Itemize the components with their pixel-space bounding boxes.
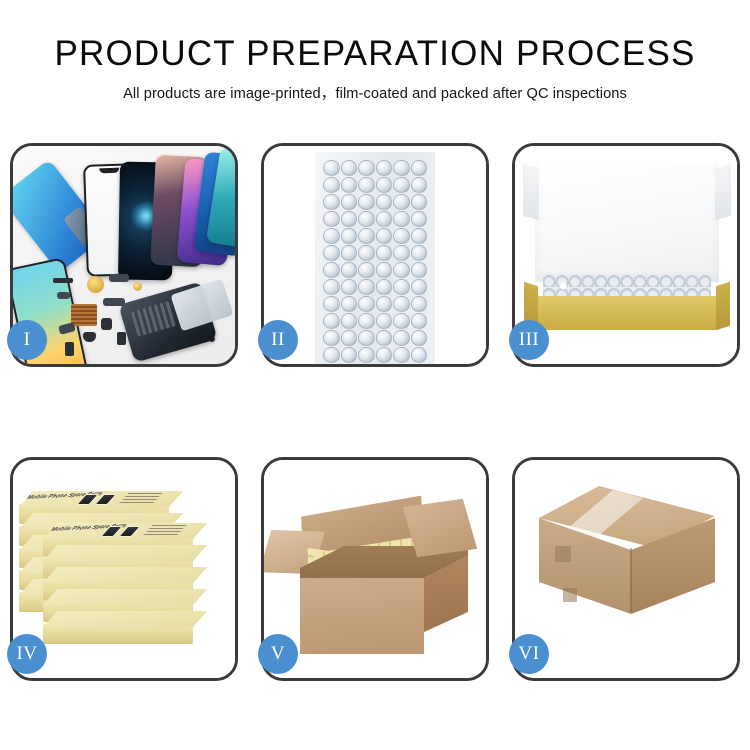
- speaker-part-icon: [87, 276, 104, 293]
- bubble-cell: [376, 177, 393, 193]
- connector-part-icon: [53, 278, 73, 283]
- sealed-carton-scene: [515, 460, 737, 678]
- bubble-grid: [323, 160, 427, 356]
- bubble-cell: [358, 296, 375, 312]
- bubble-cell: [341, 194, 358, 210]
- step-image-1: [13, 146, 235, 364]
- step-panel-1: I: [10, 143, 238, 367]
- bubble-cell: [358, 211, 375, 227]
- bubble-cell: [411, 330, 428, 346]
- chip-grid-part-icon: [71, 304, 97, 326]
- step-image-3: [515, 146, 737, 364]
- taptic-part-icon: [83, 332, 96, 342]
- bubble-cell: [411, 245, 428, 261]
- step-panel-4: Mobile Phone Spare PartsMobile Phone Spa…: [10, 457, 238, 681]
- bubble-cell: [323, 347, 340, 363]
- box-lid-icon: [535, 162, 719, 282]
- bubble-cell: [323, 177, 340, 193]
- bubble-cell: [376, 228, 393, 244]
- kraft-box-top-face: [43, 611, 207, 627]
- bubble-cell: [358, 279, 375, 295]
- page-subtitle: All products are image-printed，film-coat…: [0, 82, 750, 103]
- bubble-cell: [323, 262, 340, 278]
- step-badge-5: V: [258, 634, 298, 674]
- bubble-cell: [358, 228, 375, 244]
- bubble-cell: [393, 313, 410, 329]
- bubble-cell: [393, 279, 410, 295]
- step-badge-4: IV: [7, 634, 47, 674]
- bubble-cell: [358, 160, 375, 176]
- kraft-box-top-face: [43, 589, 207, 605]
- step-image-6: [515, 460, 737, 678]
- bubble-cell: [411, 347, 428, 363]
- bubble-cell: [376, 245, 393, 261]
- bubble-cell: [341, 228, 358, 244]
- bubble-cell: [341, 211, 358, 227]
- bubble-cell: [323, 160, 340, 176]
- step-image-2: [264, 146, 486, 364]
- carton-hand-hole-icon: [563, 588, 577, 602]
- phone-parts-scene: [13, 146, 235, 364]
- bubble-cell: [393, 296, 410, 312]
- step-badge-2: II: [258, 320, 298, 360]
- bubble-cell: [341, 296, 358, 312]
- step-badge-6: VI: [509, 634, 549, 674]
- bubble-cell: [341, 313, 358, 329]
- header: PRODUCT PREPARATION PROCESS All products…: [0, 0, 750, 103]
- bubble-cell: [323, 211, 340, 227]
- carton-edge-seam: [630, 548, 632, 612]
- bubble-cell: [393, 330, 410, 346]
- page-title: PRODUCT PREPARATION PROCESS: [0, 36, 750, 73]
- bubble-cell: [358, 245, 375, 261]
- step-badge-1: I: [7, 320, 47, 360]
- bubble-cell: [393, 194, 410, 210]
- bubble-cell: [358, 313, 375, 329]
- bubble-cell: [393, 211, 410, 227]
- bubble-cell: [323, 313, 340, 329]
- bubble-cell: [393, 347, 410, 363]
- open-carton-scene: [264, 460, 486, 678]
- carton-flap-right-icon: [403, 499, 477, 557]
- step-image-4: Mobile Phone Spare PartsMobile Phone Spa…: [13, 460, 235, 678]
- carton-hand-hole-icon: [555, 546, 571, 562]
- bubble-cell: [358, 347, 375, 363]
- bubble-cell: [376, 279, 393, 295]
- bubble-cell: [341, 177, 358, 193]
- bubble-cell: [323, 279, 340, 295]
- bubble-cell: [376, 160, 393, 176]
- button-part-icon: [117, 332, 126, 345]
- bubble-cell: [393, 245, 410, 261]
- bubble-cell: [411, 262, 428, 278]
- bubble-cell: [411, 177, 428, 193]
- bubble-cell: [411, 160, 428, 176]
- step-panel-2: II: [261, 143, 489, 367]
- camera-part-icon: [101, 318, 112, 330]
- bubble-cell: [341, 262, 358, 278]
- bubble-cell: [341, 160, 358, 176]
- bubble-cell: [411, 211, 428, 227]
- bubble-cell: [358, 262, 375, 278]
- flex-cable-part-icon: [109, 274, 129, 282]
- bubble-cell: [323, 296, 340, 312]
- stacked-boxes-scene: Mobile Phone Spare PartsMobile Phone Spa…: [13, 460, 235, 678]
- bubble-cell: [341, 330, 358, 346]
- bubble-cell: [323, 330, 340, 346]
- bubble-cell: [323, 245, 340, 261]
- step-panel-6: VI: [512, 457, 740, 681]
- step-panel-3: III: [512, 143, 740, 367]
- kraft-box-top-face: [43, 567, 207, 583]
- flex-cable-part-icon: [57, 292, 70, 299]
- bubble-cell: [323, 194, 340, 210]
- bubble-cell: [393, 262, 410, 278]
- bubble-cell: [411, 228, 428, 244]
- kraft-box: [43, 624, 193, 644]
- step-panel-5: V: [261, 457, 489, 681]
- bubble-cell: [358, 194, 375, 210]
- bubble-cell: [341, 245, 358, 261]
- bubble-cell: [393, 160, 410, 176]
- bubble-cell: [411, 296, 428, 312]
- step-badge-3: III: [509, 320, 549, 360]
- step-image-5: [264, 460, 486, 678]
- bubble-cell: [376, 313, 393, 329]
- bubble-cell: [358, 330, 375, 346]
- process-steps-grid: I II III: [10, 143, 740, 681]
- sim-tray-part-icon: [65, 342, 74, 356]
- bubble-cell: [393, 228, 410, 244]
- bubble-cell: [341, 347, 358, 363]
- bubble-wrap-strip-icon: [315, 152, 435, 364]
- bubble-wrap-scene: [264, 146, 486, 364]
- inner-box-scene: [515, 146, 737, 364]
- bubble-cell: [376, 194, 393, 210]
- bubble-cell: [393, 177, 410, 193]
- bubble-cell: [323, 228, 340, 244]
- bubble-cell: [411, 279, 428, 295]
- carton-front-face-icon: [300, 578, 424, 654]
- bubble-cell: [411, 313, 428, 329]
- kraft-tray-icon: [535, 296, 719, 330]
- bubble-cell: [376, 262, 393, 278]
- kraft-box-top-face: [43, 545, 207, 561]
- bubble-cell: [376, 330, 393, 346]
- bubble-cell: [376, 347, 393, 363]
- bubble-cell: [376, 296, 393, 312]
- bubble-cell: [358, 177, 375, 193]
- bubble-cell: [376, 211, 393, 227]
- product-preparation-infographic: PRODUCT PREPARATION PROCESS All products…: [0, 0, 750, 750]
- bubble-cell: [411, 194, 428, 210]
- bubble-cell: [341, 279, 358, 295]
- screw-part-icon: [133, 282, 142, 291]
